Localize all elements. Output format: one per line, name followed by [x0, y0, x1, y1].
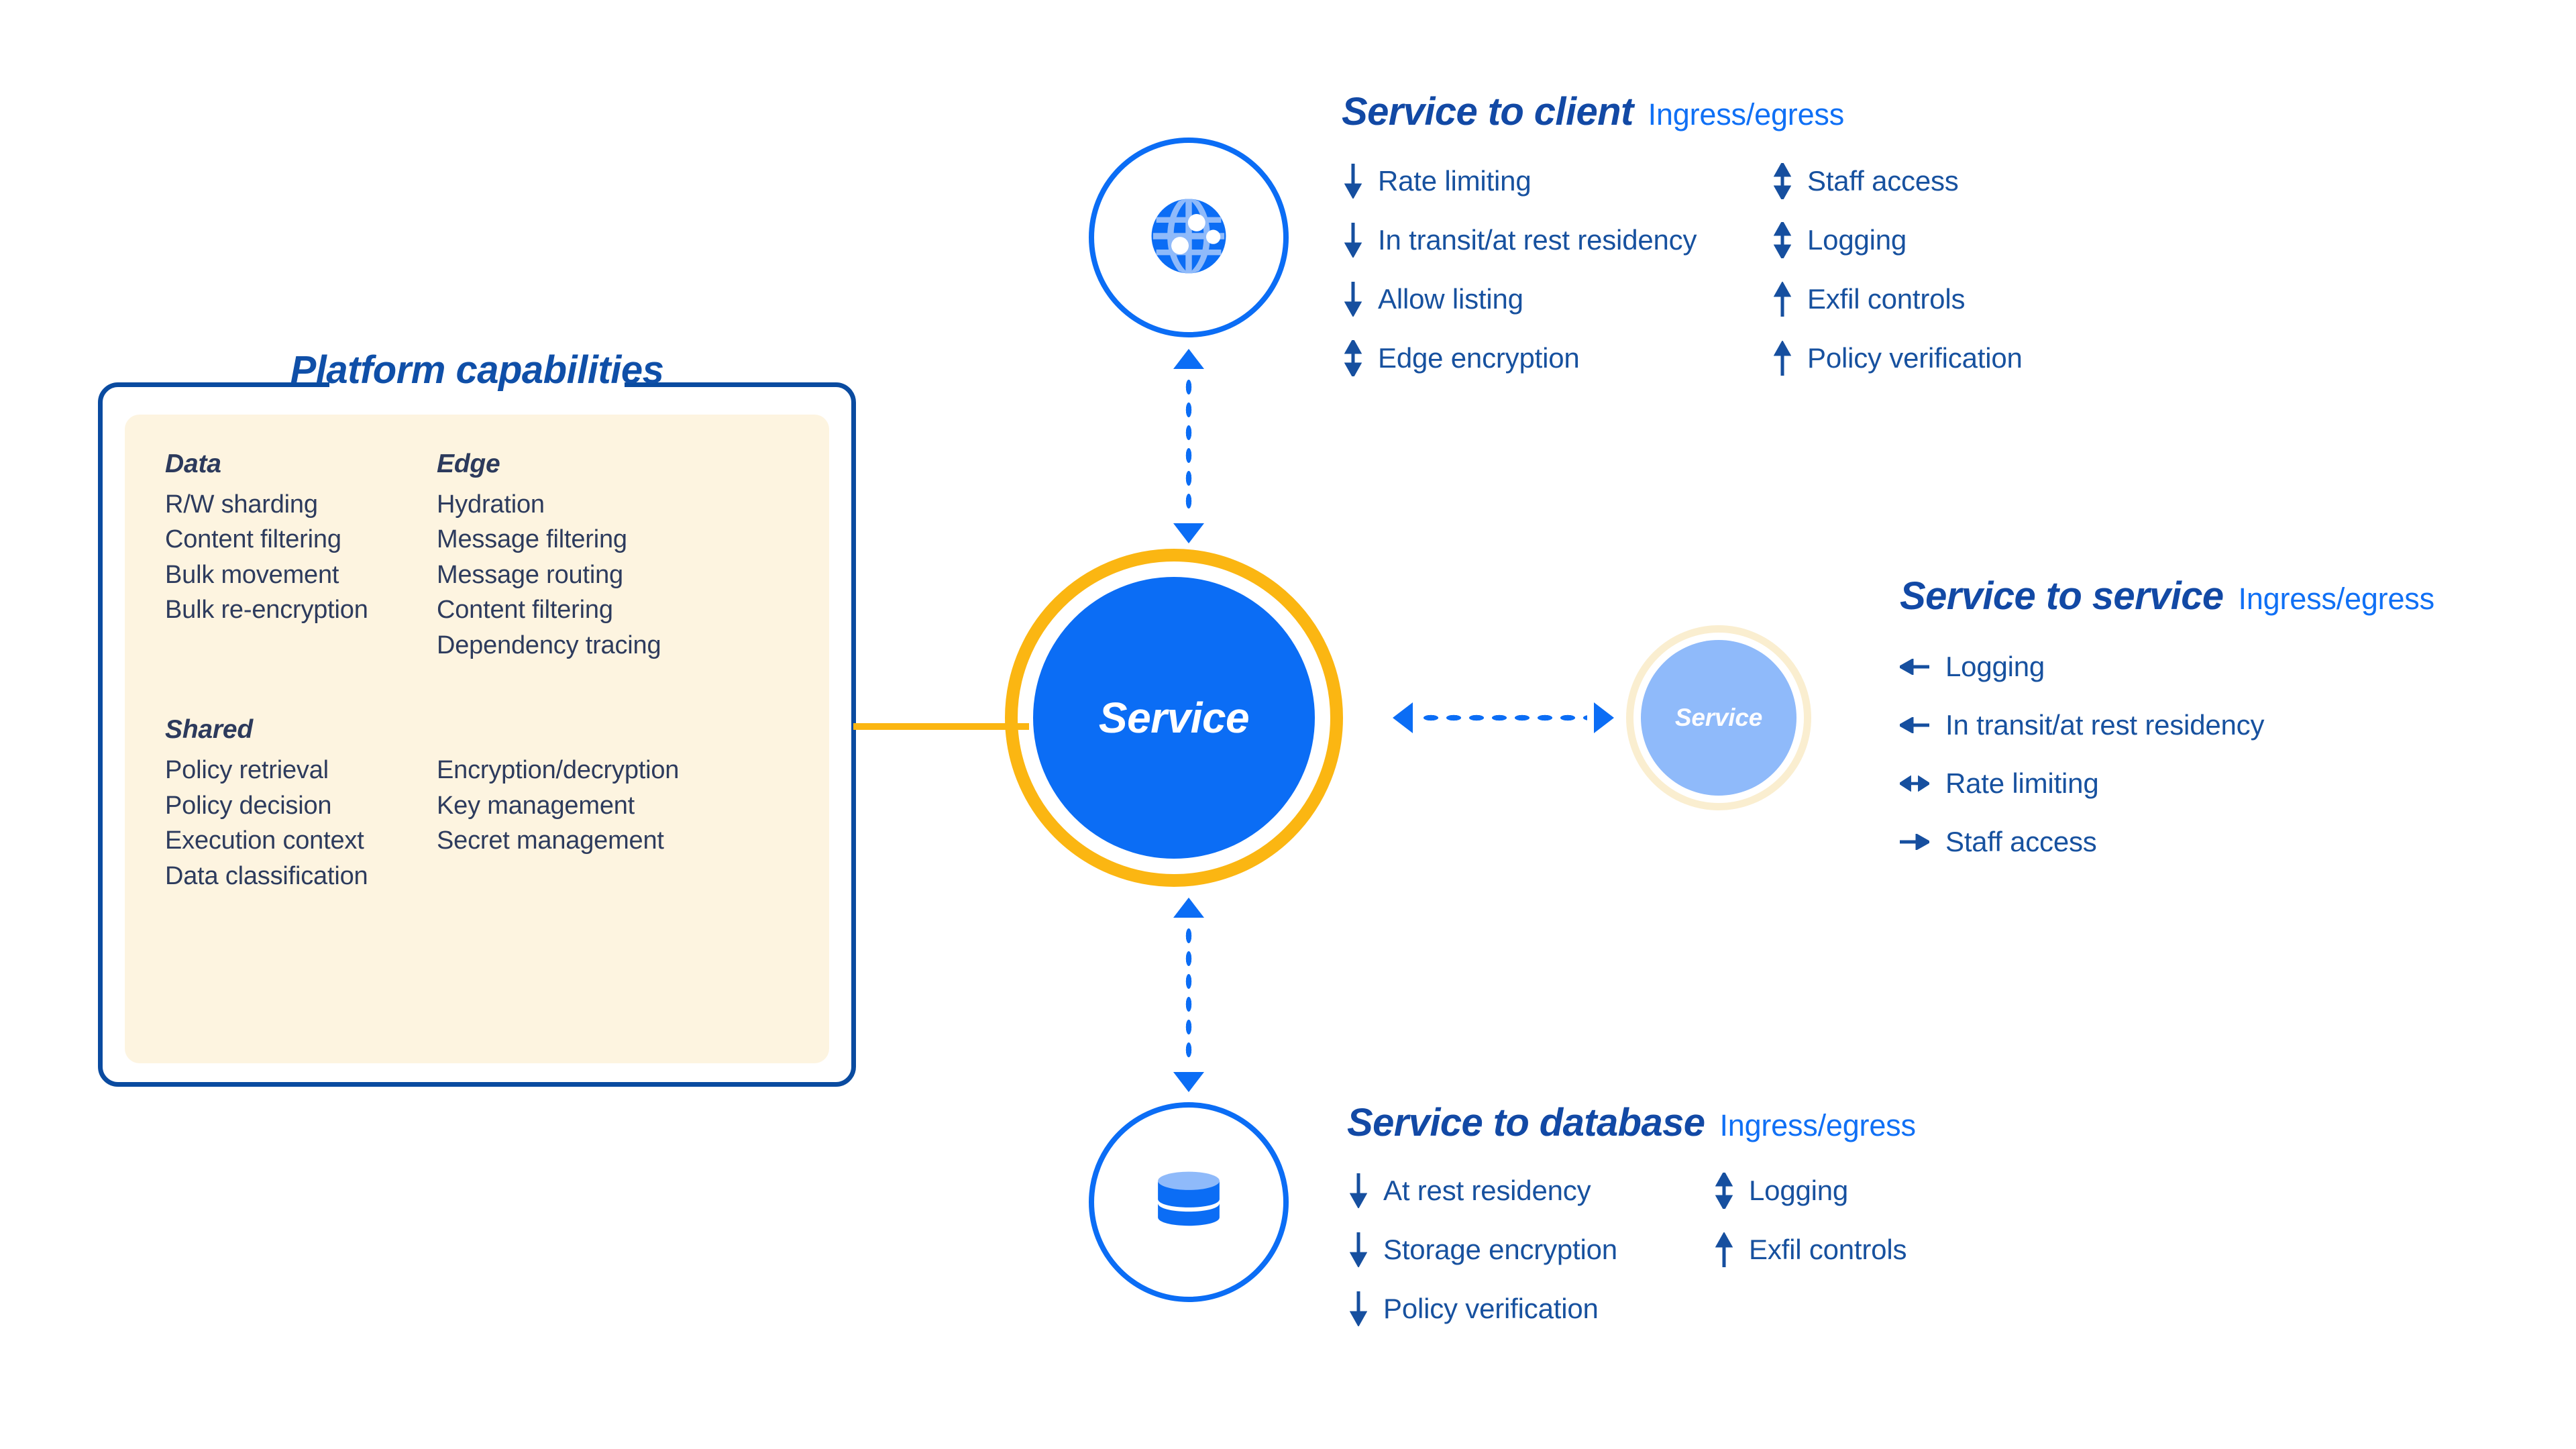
- arrow-down-icon: [1342, 282, 1364, 317]
- list-item: Logging: [1771, 211, 2023, 270]
- arrow-left-icon: [1900, 659, 1929, 675]
- arrow-up-down-icon: [1342, 340, 1364, 376]
- section-column: Staff access Logging Exfil controls Poli…: [1771, 152, 2023, 388]
- list-item: Storage encryption: [1347, 1220, 1713, 1279]
- section-subtitle: Ingress/egress: [1719, 1108, 1915, 1143]
- list-item: Rate limiting: [1900, 754, 2264, 812]
- list-item-label: Exfil controls: [1749, 1234, 1907, 1266]
- arrow-left-icon: [1900, 717, 1929, 733]
- list-item: Exfil controls: [1713, 1220, 1907, 1279]
- list-item-label: Storage encryption: [1383, 1234, 1617, 1266]
- list-item: Edge encryption: [1342, 329, 1771, 388]
- capability-item: Message filtering: [437, 522, 708, 557]
- arrow-down-icon: [1342, 223, 1364, 258]
- list-item: Allow listing: [1342, 270, 1771, 329]
- capability-column-data: Data R/W sharding Content filtering Bulk…: [165, 449, 437, 663]
- capability-item: Key management: [437, 788, 708, 823]
- capability-item: Content filtering: [165, 522, 437, 557]
- arrow-right-icon: [1900, 834, 1929, 850]
- panel-title: Platform capabilities: [98, 347, 856, 392]
- capability-column-edge: Edge Hydration Message filtering Message…: [437, 449, 708, 663]
- capability-item: R/W sharding: [165, 487, 437, 522]
- capability-item: Policy retrieval: [165, 753, 437, 788]
- section-header: Service to service Ingress/egress: [1900, 574, 2434, 619]
- capability-column-shared-secondary: Encryption/decryption Key management Sec…: [437, 715, 708, 894]
- arrow-down-icon: [1347, 1173, 1370, 1208]
- section-service-to-service: Service to service Ingress/egress Loggin…: [1900, 574, 2434, 871]
- section-service-to-client: Service to client Ingress/egress Rate li…: [1342, 89, 2023, 388]
- arrow-up-down-icon: [1771, 163, 1794, 199]
- arrow-up-down-icon: [1713, 1173, 1735, 1209]
- capability-group-heading: Shared: [165, 715, 437, 747]
- section-column: Logging Exfil controls: [1713, 1161, 1907, 1338]
- arrow-up-icon: [1713, 1232, 1735, 1267]
- list-item-label: Logging: [1807, 224, 1907, 256]
- list-item-label: Allow listing: [1378, 283, 1523, 315]
- arrow-up-icon: [1771, 341, 1794, 376]
- capability-group-shared: Shared Policy retrieval Policy decision …: [165, 715, 829, 894]
- section-title: Service to database: [1347, 1100, 1705, 1145]
- globe-icon: [1149, 197, 1228, 279]
- capability-item: Dependency tracing: [437, 628, 708, 663]
- dotted-line: [1419, 714, 1587, 722]
- capability-group-data: Data R/W sharding Content filtering Bulk…: [165, 449, 829, 663]
- section-columns: Rate limiting In transit/at rest residen…: [1342, 152, 2023, 388]
- list-item-label: Edge encryption: [1378, 342, 1580, 374]
- arrow-down-icon: [1347, 1291, 1370, 1326]
- list-item-label: Logging: [1945, 651, 2045, 683]
- list-item-label: Exfil controls: [1807, 283, 1965, 315]
- platform-capabilities-panel: Platform capabilities Data R/W sharding …: [98, 382, 856, 1087]
- capability-item: Message routing: [437, 557, 708, 592]
- section-header: Service to database Ingress/egress: [1347, 1100, 1916, 1145]
- peer-core: Service: [1641, 640, 1796, 796]
- peer-service-node[interactable]: Service: [1626, 625, 1811, 810]
- capability-group-heading: Edge: [437, 449, 708, 482]
- list-item-label: At rest residency: [1383, 1175, 1591, 1207]
- list-item: Rate limiting: [1342, 152, 1771, 211]
- list-item: In transit/at rest residency: [1342, 211, 1771, 270]
- section-columns: Logging In transit/at rest residency Rat…: [1900, 637, 2434, 871]
- list-item-label: Rate limiting: [1945, 767, 2098, 800]
- database-node-circle: [1089, 1102, 1289, 1302]
- arrow-head-down-icon: [1173, 523, 1204, 543]
- peer-service-label: Service: [1675, 704, 1762, 732]
- section-header: Service to client Ingress/egress: [1342, 89, 2023, 134]
- section-columns: At rest residency Storage encryption Pol…: [1347, 1161, 1916, 1338]
- section-column: At rest residency Storage encryption Pol…: [1347, 1161, 1713, 1338]
- list-item-label: In transit/at rest residency: [1378, 224, 1697, 256]
- list-item: Logging: [1900, 637, 2264, 696]
- database-icon: [1147, 1159, 1230, 1246]
- hub-to-client-connector: [1122, 349, 1256, 543]
- list-item-label: Policy verification: [1383, 1293, 1599, 1325]
- hub-to-database-connector: [1122, 898, 1256, 1092]
- section-column: Rate limiting In transit/at rest residen…: [1342, 152, 1771, 388]
- arrow-head-up-icon: [1173, 349, 1204, 369]
- hub-service-label: Service: [1099, 693, 1249, 743]
- section-subtitle: Ingress/egress: [2239, 582, 2434, 616]
- arrow-head-right-icon: [1594, 702, 1614, 733]
- list-item: Staff access: [1900, 812, 2264, 871]
- client-node-circle: [1089, 138, 1289, 337]
- hub-to-peer-connector: [1393, 671, 1614, 765]
- capability-item: Hydration: [437, 487, 708, 522]
- list-item: Exfil controls: [1771, 270, 2023, 329]
- list-item: Policy verification: [1771, 329, 2023, 388]
- section-subtitle: Ingress/egress: [1648, 97, 1844, 132]
- arrow-down-icon: [1347, 1232, 1370, 1267]
- capability-item: Content filtering: [437, 592, 708, 627]
- list-item: Policy verification: [1347, 1279, 1713, 1338]
- arrow-head-down-icon: [1173, 1072, 1204, 1092]
- list-item-label: Policy verification: [1807, 342, 2023, 374]
- arrow-head-left-icon: [1393, 702, 1413, 733]
- capability-item: Bulk movement: [165, 557, 437, 592]
- capability-group-heading: Data: [165, 449, 437, 482]
- section-service-to-database: Service to database Ingress/egress At re…: [1347, 1100, 1916, 1338]
- capability-column-shared: Shared Policy retrieval Policy decision …: [165, 715, 437, 894]
- list-item-label: Logging: [1749, 1175, 1848, 1207]
- capability-item: Policy decision: [165, 788, 437, 823]
- list-item-label: Rate limiting: [1378, 165, 1531, 197]
- database-node[interactable]: [1089, 1102, 1289, 1302]
- panel-to-hub-connector-line: [853, 723, 1029, 730]
- arrow-head-up-icon: [1173, 898, 1204, 918]
- capability-item: Secret management: [437, 823, 708, 858]
- list-item-label: Staff access: [1945, 826, 2097, 858]
- hub-service-node[interactable]: Service: [1005, 549, 1343, 887]
- section-title: Service to client: [1342, 89, 1633, 134]
- list-item: Staff access: [1771, 152, 2023, 211]
- list-item-label: In transit/at rest residency: [1945, 709, 2264, 741]
- dotted-line: [1185, 376, 1193, 515]
- list-item: Logging: [1713, 1161, 1907, 1220]
- section-column: Logging In transit/at rest residency Rat…: [1900, 637, 2264, 871]
- list-item: At rest residency: [1347, 1161, 1713, 1220]
- dotted-line: [1185, 924, 1193, 1064]
- arrow-up-icon: [1771, 282, 1794, 317]
- hub-core: Service: [1033, 577, 1315, 859]
- list-item: In transit/at rest residency: [1900, 696, 2264, 754]
- panel-content: Data R/W sharding Content filtering Bulk…: [125, 415, 829, 1063]
- arrow-up-down-icon: [1771, 222, 1794, 258]
- arrow-left-right-icon: [1900, 775, 1929, 792]
- capability-item: Execution context: [165, 823, 437, 858]
- section-title: Service to service: [1900, 574, 2224, 619]
- client-node[interactable]: [1089, 138, 1289, 337]
- capability-item: Encryption/decryption: [437, 753, 708, 788]
- list-item-label: Staff access: [1807, 165, 1959, 197]
- capability-item: Data classification: [165, 859, 437, 894]
- capability-item: Bulk re-encryption: [165, 592, 437, 627]
- arrow-down-icon: [1342, 164, 1364, 199]
